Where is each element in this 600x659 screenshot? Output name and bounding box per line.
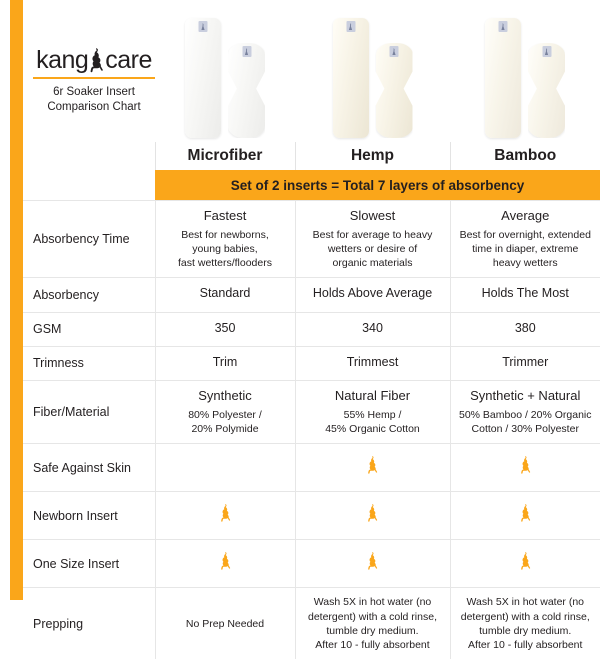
row-label: One Size Insert — [23, 540, 155, 588]
cell-detail: Best for average to heavywetters or desi… — [302, 228, 444, 271]
column-header-row: MicrofiberHempBamboo — [23, 142, 600, 170]
cell-bamboo: Holds The Most — [450, 278, 600, 312]
cell-title: Synthetic — [162, 388, 289, 405]
table-row: Safe Against Skin — [23, 444, 600, 492]
cell-detail: Wash 5X in hot water (nodetergent) with … — [302, 595, 444, 652]
comparison-chart-page: kang care 6r Soaker Insert Comparison Ch… — [0, 0, 600, 600]
layers-banner-text: Set of 2 inserts = Total 7 layers of abs… — [155, 170, 600, 201]
column-header-bamboo: Bamboo — [450, 142, 600, 170]
table-row: PreppingNo Prep NeededWash 5X in hot wat… — [23, 588, 600, 659]
row-label: GSM — [23, 312, 155, 346]
cell-hemp: 340 — [295, 312, 450, 346]
cell-title: Trimmer — [457, 354, 595, 370]
cell-microfiber: Trim — [155, 346, 295, 380]
cell-title: Fastest — [162, 208, 289, 225]
cell-bamboo: Trimmer — [450, 346, 600, 380]
table-row: Newborn Insert — [23, 492, 600, 540]
row-label: Absorbency Time — [23, 201, 155, 278]
kangaroo-check-icon — [365, 456, 380, 475]
cell-title: Trim — [162, 354, 289, 370]
kangaroo-check-icon — [365, 504, 380, 523]
cell-microfiber: 350 — [155, 312, 295, 346]
row-label: Absorbency — [23, 278, 155, 312]
cell-detail: No Prep Needed — [162, 617, 289, 631]
row-label: Prepping — [23, 588, 155, 659]
row-label: Newborn Insert — [23, 492, 155, 540]
cell-title: Natural Fiber — [302, 388, 444, 405]
cell-microfiber: Standard — [155, 278, 295, 312]
kangaroo-check-icon — [218, 504, 233, 523]
cell-hemp — [295, 444, 450, 492]
cell-detail: 55% Hemp /45% Organic Cotton — [302, 408, 444, 436]
cell-bamboo — [450, 540, 600, 588]
banner-label-spacer — [23, 170, 155, 201]
row-label: Safe Against Skin — [23, 444, 155, 492]
cell-hemp: Wash 5X in hot water (nodetergent) with … — [295, 588, 450, 659]
cell-title: Holds Above Average — [302, 285, 444, 301]
cell-title: Holds The Most — [457, 285, 595, 301]
cell-microfiber — [155, 492, 295, 540]
cell-detail: Best for newborns,young babies,fast wett… — [162, 228, 289, 271]
column-header-hemp: Hemp — [295, 142, 450, 170]
cell-bamboo: AverageBest for overnight, extendedtime … — [450, 201, 600, 278]
kangaroo-check-icon — [518, 504, 533, 523]
row-label: Trimness — [23, 346, 155, 380]
table-row: One Size Insert — [23, 540, 600, 588]
cell-hemp: Holds Above Average — [295, 278, 450, 312]
cell-bamboo — [450, 444, 600, 492]
kangaroo-check-icon — [365, 552, 380, 571]
cell-microfiber — [155, 444, 295, 492]
table-row: Absorbency TimeFastestBest for newborns,… — [23, 201, 600, 278]
column-header-microfiber: Microfiber — [155, 142, 295, 170]
cell-hemp: SlowestBest for average to heavywetters … — [295, 201, 450, 278]
cell-title: 340 — [302, 320, 444, 336]
kangaroo-check-icon — [218, 552, 233, 571]
cell-microfiber: No Prep Needed — [155, 588, 295, 659]
cell-bamboo: Synthetic + Natural50% Bamboo / 20% Orga… — [450, 381, 600, 444]
cell-bamboo: 380 — [450, 312, 600, 346]
cell-hemp: Natural Fiber55% Hemp /45% Organic Cotto… — [295, 381, 450, 444]
cell-title: Slowest — [302, 208, 444, 225]
cell-detail: 50% Bamboo / 20% OrganicCotton / 30% Pol… — [457, 408, 595, 436]
cell-detail: Wash 5X in hot water (nodetergent) with … — [457, 595, 595, 652]
cell-title: Trimmest — [302, 354, 444, 370]
table-row: GSM350340380 — [23, 312, 600, 346]
layers-banner-row: Set of 2 inserts = Total 7 layers of abs… — [23, 170, 600, 201]
cell-detail: 80% Polyester /20% Polymide — [162, 408, 289, 436]
table-row: TrimnessTrimTrimmestTrimmer — [23, 346, 600, 380]
cell-bamboo: Wash 5X in hot water (nodetergent) with … — [450, 588, 600, 659]
cell-microfiber: Synthetic80% Polyester /20% Polymide — [155, 381, 295, 444]
cell-title: Synthetic + Natural — [457, 388, 595, 405]
cell-title: 380 — [457, 320, 595, 336]
cell-microfiber: FastestBest for newborns,young babies,fa… — [155, 201, 295, 278]
cell-hemp: Trimmest — [295, 346, 450, 380]
corner-cell — [23, 142, 155, 170]
comparison-table-body: MicrofiberHempBambooSet of 2 inserts = T… — [23, 0, 600, 659]
cell-hemp — [295, 540, 450, 588]
cell-hemp — [295, 492, 450, 540]
cell-microfiber — [155, 540, 295, 588]
cell-title: Standard — [162, 285, 289, 301]
table-row: AbsorbencyStandardHolds Above AverageHol… — [23, 278, 600, 312]
row-label: Fiber/Material — [23, 381, 155, 444]
cell-title: 350 — [162, 320, 289, 336]
photo-spacer-row — [23, 0, 600, 142]
left-accent-stripe — [10, 0, 23, 600]
cell-title: Average — [457, 208, 595, 225]
table-row: Fiber/MaterialSynthetic80% Polyester /20… — [23, 381, 600, 444]
kangaroo-check-icon — [518, 552, 533, 571]
kangaroo-check-icon — [518, 456, 533, 475]
comparison-table: MicrofiberHempBambooSet of 2 inserts = T… — [23, 0, 600, 659]
cell-bamboo — [450, 492, 600, 540]
cell-detail: Best for overnight, extendedtime in diap… — [457, 228, 595, 271]
no-check-placeholder — [218, 456, 233, 475]
